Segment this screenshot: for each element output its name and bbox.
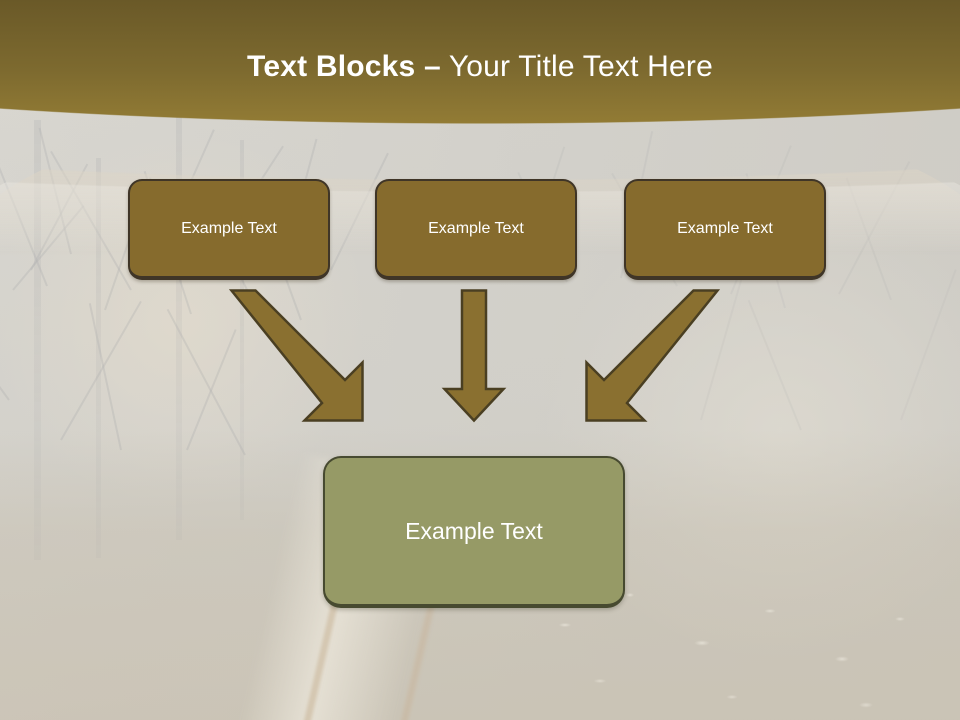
text-block-3-label: Example Text	[677, 220, 773, 238]
text-block-2-label: Example Text	[428, 220, 524, 238]
page-title: Text Blocks – Your Title Text Here	[0, 50, 960, 84]
text-block-3[interactable]: Example Text	[624, 179, 826, 280]
text-block-1[interactable]: Example Text	[128, 179, 330, 280]
text-block-1-label: Example Text	[181, 220, 277, 238]
header-gradient	[0, 0, 960, 185]
slide-canvas: Text Blocks – Your Title Text Here Examp…	[0, 0, 960, 720]
page-title-bold: Text Blocks –	[247, 50, 441, 83]
header-band	[0, 0, 960, 185]
text-block-2[interactable]: Example Text	[375, 179, 577, 280]
page-title-light: Your Title Text Here	[441, 50, 713, 83]
result-text-block[interactable]: Example Text	[323, 456, 625, 608]
result-text-block-label: Example Text	[405, 518, 543, 545]
